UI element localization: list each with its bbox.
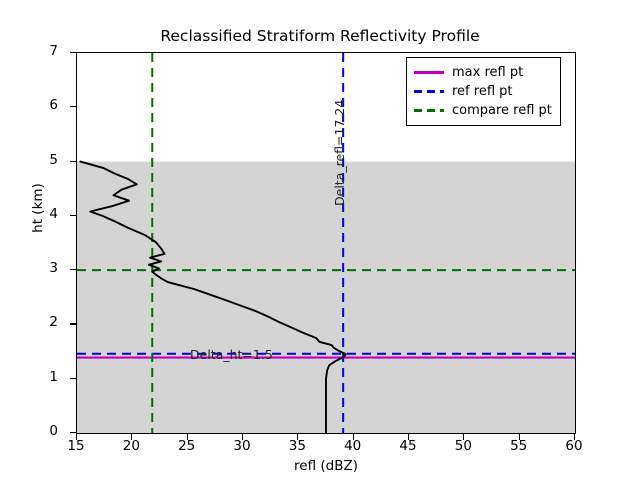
page-title: Reclassified Stratiform Reflectivity Pro…: [0, 27, 640, 45]
x-tick-label: 15: [46, 438, 106, 454]
x-tick-mark: [353, 434, 354, 440]
legend-item-ref-refl-pt: ref refl pt: [414, 82, 552, 101]
y-tick-label: 4: [18, 206, 58, 222]
x-tick-mark: [408, 434, 409, 440]
x-tick-mark: [297, 434, 298, 440]
legend-label: max refl pt: [452, 65, 523, 80]
x-tick-label: 35: [267, 438, 327, 454]
x-tick-mark: [519, 434, 520, 440]
x-tick-label: 50: [433, 438, 493, 454]
x-tick-mark: [242, 434, 243, 440]
legend: max refl pt ref refl pt compare refl pt: [406, 57, 561, 126]
y-tick-label: 3: [18, 260, 58, 276]
x-tick-label: 30: [212, 438, 272, 454]
x-tick-label: 45: [378, 438, 438, 454]
x-tick-mark: [131, 434, 132, 440]
y-tick-label: 1: [18, 369, 58, 385]
legend-label: compare refl pt: [452, 103, 552, 118]
reflectivity-profile-figure: Reclassified Stratiform Reflectivity Pro…: [0, 0, 640, 480]
y-tick-label: 7: [18, 43, 58, 59]
x-tick-mark: [187, 434, 188, 440]
legend-item-max-refl-pt: max refl pt: [414, 63, 552, 82]
x-tick-mark: [574, 434, 575, 440]
y-tick-label: 0: [18, 423, 58, 439]
annotation-delta-ht: Delta_ht=1.5: [190, 347, 273, 362]
x-tick-mark: [76, 434, 77, 440]
legend-label: ref refl pt: [452, 84, 513, 99]
x-tick-label: 25: [157, 438, 217, 454]
x-tick-mark: [463, 434, 464, 440]
y-tick-label: 6: [18, 97, 58, 113]
x-axis-label: refl (dBZ): [76, 458, 576, 474]
x-tick-label: 60: [544, 438, 604, 454]
annotation-delta-refl: Delta_refl=17.24: [332, 100, 347, 206]
x-tick-label: 40: [323, 438, 383, 454]
y-tick-label: 5: [18, 152, 58, 168]
x-tick-label: 20: [101, 438, 161, 454]
y-tick-label: 2: [18, 314, 58, 330]
legend-item-compare-refl-pt: compare refl pt: [414, 101, 552, 120]
x-tick-label: 55: [489, 438, 549, 454]
